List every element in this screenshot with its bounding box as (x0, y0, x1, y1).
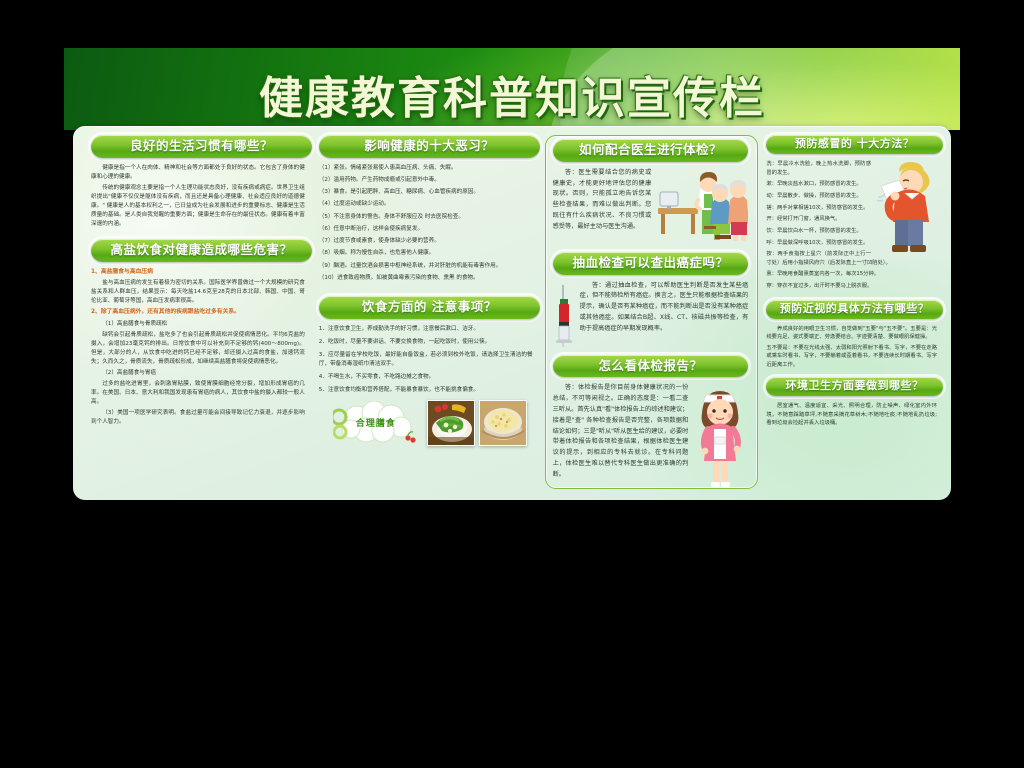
illustration-doctor-and-elderly-patients (656, 168, 748, 242)
column-prevention: 预防感冒的 十大方法？ (760, 133, 943, 493)
list-item: （7）过度节食或素食，使身体缺少必要的营养。 (319, 237, 533, 246)
heading-blood-test-cancer: 抽血检查可以查出癌症吗？ (553, 252, 749, 275)
list-item: （8）吸烟。称为慢性自杀，也危害他人健康。 (319, 249, 533, 258)
text-cooperate-with-doctor: 答：医生需要结合您的病史或健康史，才能更好地评估您的健康现状。否则，只能孤立地告… (553, 168, 749, 233)
text-myopia-prevention: 养成良好的用眼卫生习惯，自觉做到"五要"与"五不要"。五要是：光线要充足、姿式要… (766, 325, 937, 369)
list-cold-prevention: 洗：早晨冷水洗脸，晚上热水洗脚，预防感冒的发生。 漱：早晚淡盐水漱口，预防感冒的… (766, 160, 937, 290)
paragraph: 传统的健康观念主要是指一个人生理功能状态良好，没有疾病或病症。世界卫生组织提出"… (91, 184, 305, 229)
list-item: 5．注意饮食均衡和营养搭配，不能暴食暴饮，也不能挑食偏食。 (319, 386, 533, 395)
poster-stage: 健康教育科普知识宣传栏 良好的生活习惯有哪些？ 健康是指一个人在肉体、精神和社会… (0, 0, 1024, 768)
column-habits-diet: 影响健康的十大恶习？ （1）紧张。情绪紧张易使人患高血压病、头痛、失眠。 （2）… (313, 133, 541, 493)
subheading: （2）高盐膳食与胃癌 (91, 369, 305, 378)
subheading: 1、高盐膳食与高血压病 (91, 268, 305, 277)
paragraph: （3）美国一项医学研究表明。食盐过量可能会间接导致记忆力衰退，并逐步影响到个人智… (91, 409, 305, 427)
text-read-checkup-report: 答：体检报告是你目前身体健康状况的一份总结，不可等闲视之。正确的态度是：一看二查… (553, 383, 749, 481)
column-lifestyle: 良好的生活习惯有哪些？ 健康是指一个人在肉体、精神和社会等方面都处于良好的状态。… (81, 133, 313, 493)
list-item: （6）任意中断治疗，这样会使疾病复发。 (319, 225, 533, 234)
page-title: 健康教育科普知识宣传栏 (64, 62, 960, 126)
paragraph: 五不要是：不要在光线太强、太弱和阳光照射下看书、写字，不要在走路或乘车时看书、写… (766, 344, 937, 369)
list-item: （10）进食致癌物质。如被黄曲霉素污染的食物、熏黑 的食物。 (319, 274, 533, 283)
food-photo-soup (479, 400, 527, 446)
heading-diet-notes: 饮食方面的 注意事项？ (319, 296, 540, 319)
list-item: 2．吃饭时，尽量不要讲话、不要交换食物，一起吃饭时，使用公筷。 (319, 338, 533, 347)
heading-good-living-habits: 良好的生活习惯有哪些？ (91, 135, 312, 158)
list-item: （4）过度运动或缺少运动。 (319, 200, 533, 209)
heading-environmental-hygiene: 环境卫生方面要做到哪些？ (766, 377, 942, 396)
list-diet-notes: 1．注意饮食卫生，养成勤洗手的好习惯，注意餐后漱口、洁牙。 2．吃饭时，尽量不要… (319, 325, 533, 395)
heading-read-checkup-report: 怎么看体检报告？ (553, 355, 749, 378)
list-item: （3）暴食。是引起肥胖、高血压、糖尿病、心血管疾病的原因。 (319, 188, 533, 197)
text-environmental-hygiene: 居室通气、温度适宜、采光、照明合理，防止噪声、绿化室内外环境，不随意踩踏草坪,不… (766, 402, 937, 427)
list-ten-bad-habits: （1）紧张。情绪紧张易使人患高血压病、头痛、失眠。 （2）滥用药物。产生药物成瘾… (319, 164, 533, 283)
list-item: （9）酗酒。过量饮酒会损害中枢神经系统，并对肝脏的机能有毒害作用。 (319, 262, 533, 271)
paragraph: 答：通过抽血检查，可以帮助医生判断是否发生某些癌症，但不能筛检所有癌症。换言之，… (553, 281, 749, 335)
paragraph: 缺钙会引起骨质疏松，盐吃多了也会引起骨质疏松并促使病情恶化。平均6克盐的摄入，会… (91, 331, 305, 367)
paragraph: 居室通气、温度适宜、采光、照明合理，防止噪声、绿化室内外环境，不随意踩踏草坪,不… (766, 402, 937, 427)
heading-ten-bad-habits: 影响健康的十大恶习？ (319, 135, 540, 158)
list-item: 3．应尽量留在学校吃饭，最好能自备饭盒，若必须到校外吃饭，请选择卫生清洁的餐厅，… (319, 351, 533, 369)
list-item: （1）紧张。情绪紧张易使人患高血压病、头痛、失眠。 (319, 164, 533, 173)
text-good-living-habits: 健康是指一个人在肉体、精神和社会等方面都处于良好的状态。它包含了身体的健康和心理… (91, 164, 305, 229)
paragraph: 盐与高血压病的发生有着极为密切的关系。国际医学界曾做过一个大规模的研究食盐关系和… (91, 279, 305, 306)
list-item: 穿：穿衣不宜过多，出汗时不要马上脱衣服。 (766, 282, 937, 290)
text-blood-test-cancer: 答：通过抽血检查，可以帮助医生判断是否发生某些癌症，但不能筛检所有癌症。换言之，… (553, 281, 749, 335)
text-high-salt-harm: 1、高盐膳食与高血压病 盐与高血压病的发生有着极为密切的关系。国际医学界曾做过一… (91, 268, 305, 427)
paragraph: 健康是指一个人在肉体、精神和社会等方面都处于良好的状态。它包含了身体的健康和心理… (91, 164, 305, 182)
paragraph: 过多的盐吃进胃里，会刺激胃粘膜，致使胃膜细胞经常分裂，增加形成胃癌的几率。在美国… (91, 380, 305, 407)
subheading: 2、除了高血压病外，还有其他的疾病跟盐吃过多有关系。 (91, 308, 305, 317)
subheading: （1）高盐膳食与骨质疏松 (91, 320, 305, 329)
list-item: （2）滥用药物。产生药物成瘾或引起意外中毒。 (319, 176, 533, 185)
heading-high-salt-harm: 高盐饮食对健康造成哪些危害？ (91, 239, 312, 262)
health-education-poster: 健康教育科普知识宣传栏 良好的生活习惯有哪些？ 健康是指一个人在肉体、精神和社会… (64, 48, 960, 510)
illustration-person-sneezing (875, 160, 937, 256)
illustration-nurse (692, 385, 748, 489)
list-item: 熏：早晚用食醋熏蒸室内各一次，每次15分钟。 (766, 270, 937, 278)
poster-reflection: 健康教育科普知识宣传栏 良好的生活习惯有哪些？ 健康是指一个人在肉体、精神和社会… (64, 510, 960, 740)
heading-myopia-prevention: 预防近视的具体方法有哪些？ (766, 300, 942, 319)
list-item: 1．注意饮食卫生，养成勤洗手的好习惯，注意餐后漱口、洁牙。 (319, 325, 533, 334)
heading-cold-prevention: 预防感冒的 十大方法？ (766, 135, 942, 154)
poster-board: 良好的生活习惯有哪些？ 健康是指一个人在肉体、精神和社会等方面都处于良好的状态。… (73, 126, 951, 500)
paragraph: 养成良好的用眼卫生习惯，自觉做到"五要"与"五不要"。五要是：光线要充足、姿式要… (766, 325, 937, 342)
food-photo-vegetables (427, 400, 475, 446)
heading-cooperate-with-doctor: 如何配合医生进行体检？ (553, 139, 749, 162)
balanced-diet-graphic-row: 合理膳食 (319, 399, 533, 451)
syringe-icon (553, 285, 575, 347)
list-item: 4．不喝生水，不买零食，不吃路边摊之食物。 (319, 373, 533, 382)
column-medical-checkup: 如何配合医生进行体检？ (541, 133, 761, 493)
balanced-diet-label: 合理膳食 (341, 416, 411, 429)
list-item: （5）不注意身体的警告。身体不舒服应及 时去医院检查。 (319, 213, 533, 222)
